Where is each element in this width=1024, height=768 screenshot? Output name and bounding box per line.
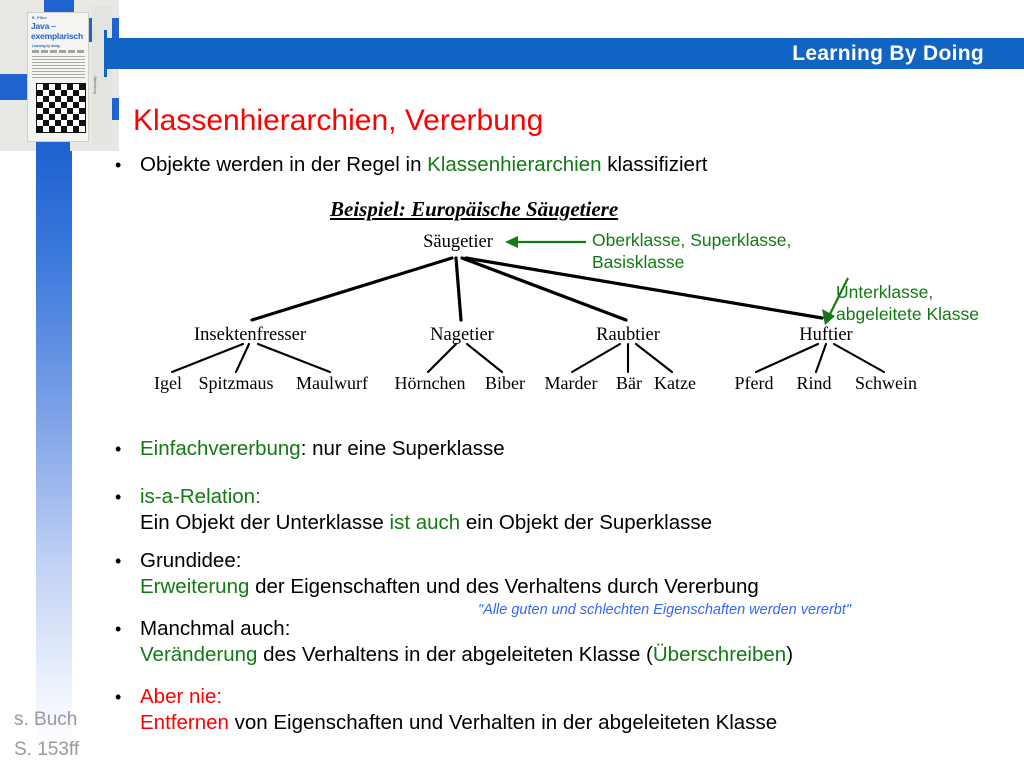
tree-node-level3-10: Schwein <box>855 373 917 394</box>
bullet-dot: • <box>115 154 121 176</box>
bullet-span: Überschreiben <box>653 643 786 666</box>
tree-node-root: Säugetier <box>423 232 493 253</box>
diagram-caption: Beispiel: Europäische Säugetiere <box>330 197 618 222</box>
bullet-line: Ein Objekt der Unterklasse ist auch ein … <box>140 510 712 536</box>
bullet-span: : nur eine Superklasse <box>301 437 505 460</box>
intro-text-part2: klassifiziert <box>602 153 708 176</box>
book-code-sample <box>32 56 85 78</box>
bullet-line: is-a-Relation: <box>140 484 712 510</box>
bullet-dot: • <box>115 686 121 708</box>
book-meta-lines <box>32 50 84 53</box>
tree-node-level2-0: Insektenfresser <box>194 325 306 346</box>
annotation-superclass: Oberklasse, Superklasse, Basisklasse <box>592 229 791 273</box>
bullet-span: des Verhaltens in der abgeleiteten Klass… <box>257 643 652 666</box>
tree-node-level2-3: Huftier <box>799 325 852 346</box>
bullet-span: is-a-Relation <box>140 485 255 508</box>
bullet-line: Veränderung des Verhaltens in der abgele… <box>140 642 793 668</box>
book-title: Java – exemplarisch <box>31 22 87 41</box>
tree-node-level3-7: Katze <box>654 373 696 394</box>
book-subtitle: Learning by doing <box>32 44 60 48</box>
list-item: • Einfachvererbung: nur eine Superklasse <box>140 436 505 462</box>
bullet-span: Manchmal auch: <box>140 617 290 640</box>
bullet-dot: • <box>115 486 121 508</box>
tree-node-level3-8: Pferd <box>735 373 774 394</box>
list-item: • Grundidee: Erweiterung der Eigenschaft… <box>140 548 759 600</box>
bullet-span: Aber nie: <box>140 685 222 708</box>
book-front-panel: R. Pfluo Java – exemplarisch Learning by… <box>27 12 89 142</box>
bullet-dot: • <box>115 550 121 572</box>
bullet-line: Grundidee: <box>140 548 759 574</box>
bullet-line: Aber nie: <box>140 684 777 710</box>
bullet-span: : <box>255 485 261 508</box>
slide-canvas: Oldenbourg R. Pfluo Java – exemplarisch … <box>0 0 1024 768</box>
footer-reference: s. Buch S. 153ff <box>14 705 79 765</box>
bullet-span: ist auch <box>390 511 461 534</box>
bullet-line: Einfachvererbung: nur eine Superklasse <box>140 436 505 462</box>
annotation-superclass-line1: Oberklasse, Superklasse, <box>592 229 791 251</box>
bullet-span: von Eigenschaften und Verhalten in der a… <box>229 711 777 734</box>
tree-node-level2-2: Raubtier <box>596 325 660 346</box>
tree-node-level3-5: Marder <box>545 373 598 394</box>
tree-node-level3-0: Igel <box>154 373 182 394</box>
bullet-dot: • <box>115 618 121 640</box>
intro-text-part1: Objekte werden in der Regel in <box>140 153 427 176</box>
tree-node-level3-9: Rind <box>796 373 831 394</box>
bullet-line: Manchmal auch: <box>140 616 793 642</box>
page-title: Klassenhierarchien, Vererbung <box>133 104 543 138</box>
bullet-span: Erweiterung <box>140 575 249 598</box>
tree-node-level3-6: Bär <box>616 373 642 394</box>
bullet-line: Entfernen von Eigenschaften und Verhalte… <box>140 710 777 736</box>
book-cover-shape <box>0 74 30 100</box>
bullet-span: Grundidee: <box>140 549 241 572</box>
footer-line1: s. Buch <box>14 705 79 735</box>
intro-bullet: •Objekte werden in der Regel in Klassenh… <box>140 152 707 178</box>
book-spine <box>92 6 112 144</box>
bullet-span: Einfachvererbung <box>140 437 301 460</box>
tree-node-level3-2: Maulwurf <box>296 373 368 394</box>
tree-node-level3-4: Biber <box>485 373 525 394</box>
book-spine-text: Oldenbourg <box>93 76 97 94</box>
annotation-subclass-line2: abgeleitete Klasse <box>836 303 979 325</box>
inheritance-quote: "Alle guten und schlechten Eigenschaften… <box>478 602 851 618</box>
annotation-subclass-line1: Unterklasse, <box>836 281 979 303</box>
bullet-span: Ein Objekt der Unterklasse <box>140 511 390 534</box>
bullet-dot: • <box>115 438 121 460</box>
bullet-span: Veränderung <box>140 643 257 666</box>
list-item: • Aber nie: Entfernen von Eigenschaften … <box>140 684 777 736</box>
annotation-subclass: Unterklasse, abgeleitete Klasse <box>836 281 979 325</box>
bullet-span: Entfernen <box>140 711 229 734</box>
list-item: • Manchmal auch: Veränderung des Verhalt… <box>140 616 793 668</box>
book-author: R. Pfluo <box>32 16 47 20</box>
tree-node-level2-1: Nagetier <box>430 325 494 346</box>
bullet-span: ) <box>786 643 793 666</box>
book-cover-image: Oldenbourg R. Pfluo Java – exemplarisch … <box>0 0 119 151</box>
annotation-superclass-line2: Basisklasse <box>592 251 791 273</box>
list-item: • is-a-Relation: Ein Objekt der Unterkla… <box>140 484 712 536</box>
tree-node-level3-3: Hörnchen <box>395 373 466 394</box>
bullet-span: ein Objekt der Superklasse <box>460 511 712 534</box>
header-title: Learning By Doing <box>792 42 984 66</box>
bullet-line: Erweiterung der Eigenschaften und des Ve… <box>140 574 759 600</box>
tree-node-level3-1: Spitzmaus <box>199 373 274 394</box>
bullet-span: der Eigenschaften und des Verhaltens dur… <box>249 575 758 598</box>
checkerboard-graphic <box>36 83 86 133</box>
left-accent-strip <box>36 150 72 750</box>
footer-line2: S. 153ff <box>14 735 79 765</box>
intro-text-highlight: Klassenhierarchien <box>427 153 601 176</box>
